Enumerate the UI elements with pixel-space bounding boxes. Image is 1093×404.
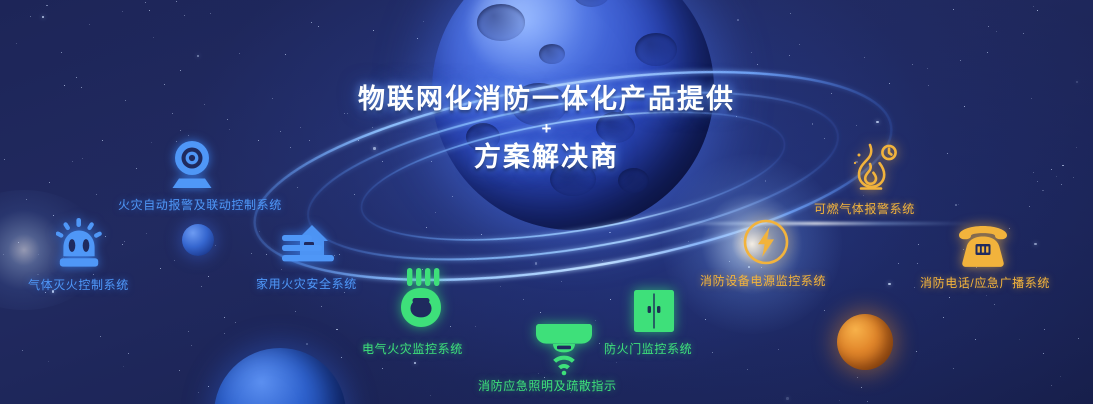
planet-crater (618, 168, 649, 193)
lens-flare-streak (672, 222, 972, 225)
alarm-siren-icon (56, 216, 102, 275)
planet-crater (477, 4, 525, 41)
feature-label: 消防设备电源监控系统 (700, 272, 826, 289)
feature-label: 消防电话/应急广播系统 (920, 274, 1050, 291)
lightning-bolt-circle-icon (742, 218, 790, 271)
planet-crater (635, 33, 677, 67)
house-safety-icon (282, 222, 338, 273)
planet-crater (539, 44, 564, 64)
power-plug-icon (395, 268, 447, 335)
planet-crater (596, 112, 635, 143)
fire-door-icon (632, 288, 676, 339)
feature-label: 防火门监控系统 (604, 340, 692, 357)
feature-label: 家用火灾安全系统 (256, 275, 357, 292)
planet-crater (550, 162, 595, 196)
smoke-detector-dome-icon (170, 138, 214, 195)
planet-crater (466, 123, 500, 151)
planet-crater (511, 83, 567, 125)
telephone-icon (950, 222, 1016, 275)
feature-label: 电气火灾监控系统 (362, 340, 463, 357)
feature-label: 火灾自动报警及联动控制系统 (118, 196, 282, 213)
small-blue-planet (182, 224, 214, 256)
ceiling-detector-signal-icon (533, 322, 595, 381)
hero-banner: 物联网化消防一体化产品提供 + 方案解决商 气体灭火控制系统 (0, 0, 1093, 404)
orange-planet (837, 314, 893, 370)
flame-alert-icon (846, 142, 902, 199)
feature-label: 可燃气体报警系统 (814, 200, 915, 217)
feature-label: 消防应急照明及疏散指示 (478, 377, 617, 394)
bottom-left-planet (214, 348, 346, 404)
feature-label: 气体灭火控制系统 (28, 276, 129, 293)
main-planet (432, 0, 714, 230)
